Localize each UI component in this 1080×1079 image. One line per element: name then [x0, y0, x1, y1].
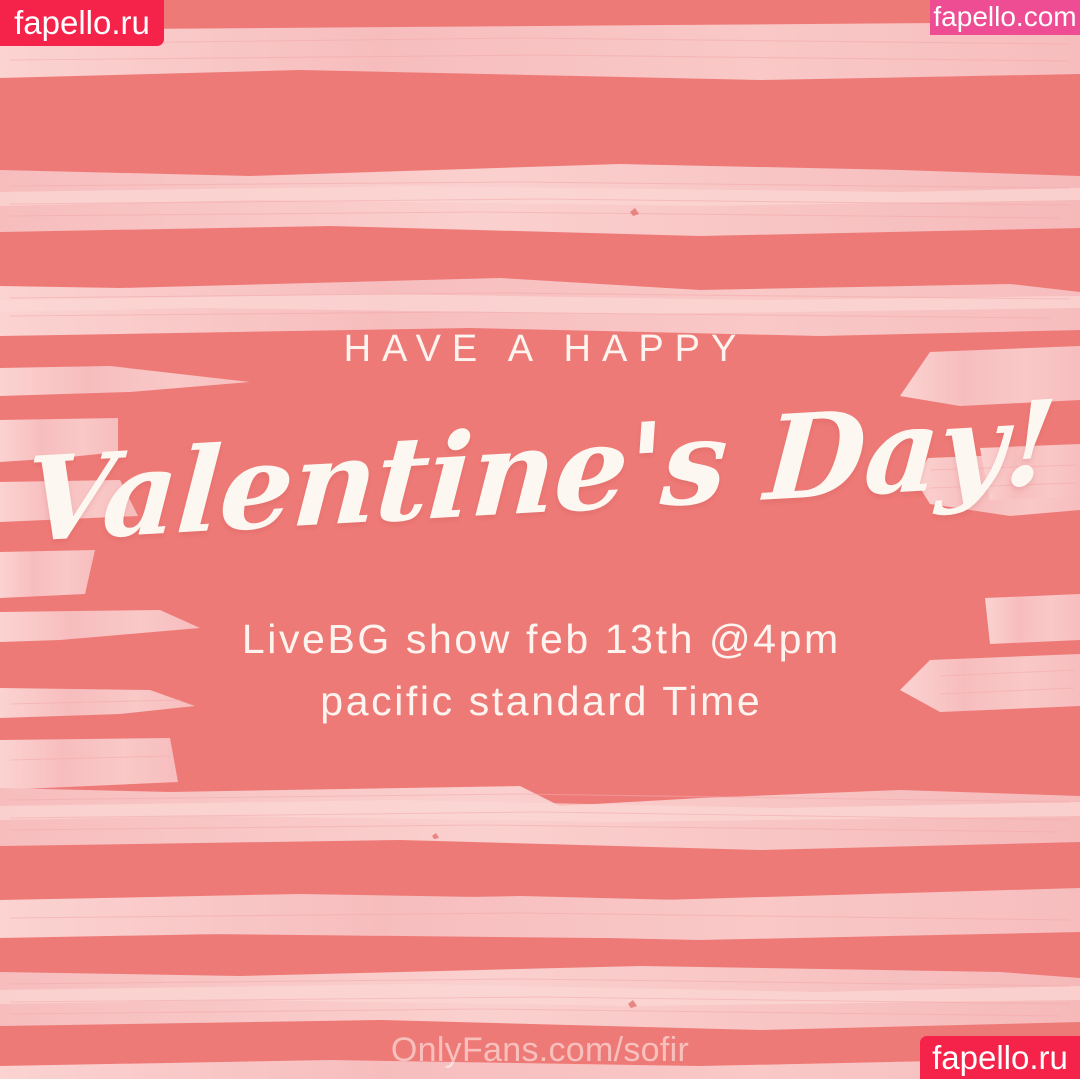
valentines-poster: HAVE A HAPPY Valentine's Day! LiveBG sho…	[0, 0, 1080, 1079]
fapello-ru-badge-top-left[interactable]: fapello.ru	[0, 0, 164, 46]
fapello-ru-badge-bottom-right[interactable]: fapello.ru	[920, 1036, 1080, 1079]
fapello-com-badge-top-right[interactable]: fapello.com	[930, 0, 1080, 35]
brush-stripe-background	[0, 0, 1080, 1079]
